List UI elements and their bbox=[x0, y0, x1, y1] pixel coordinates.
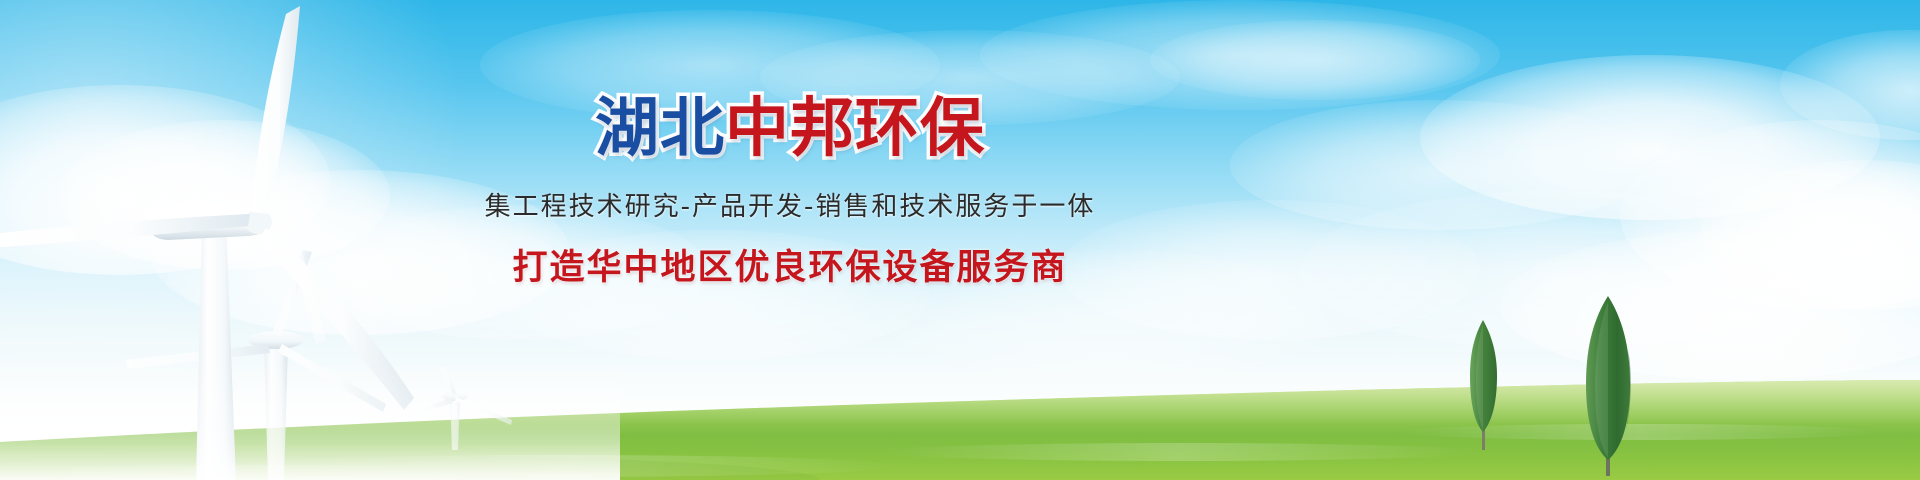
hero-banner: 湖北中邦环保 集工程技术研究-产品开发-销售和技术服务于一体 打造华中地区优良环… bbox=[0, 0, 1920, 480]
grass-hill-icon bbox=[0, 300, 1920, 480]
ground-layer bbox=[0, 300, 1920, 480]
